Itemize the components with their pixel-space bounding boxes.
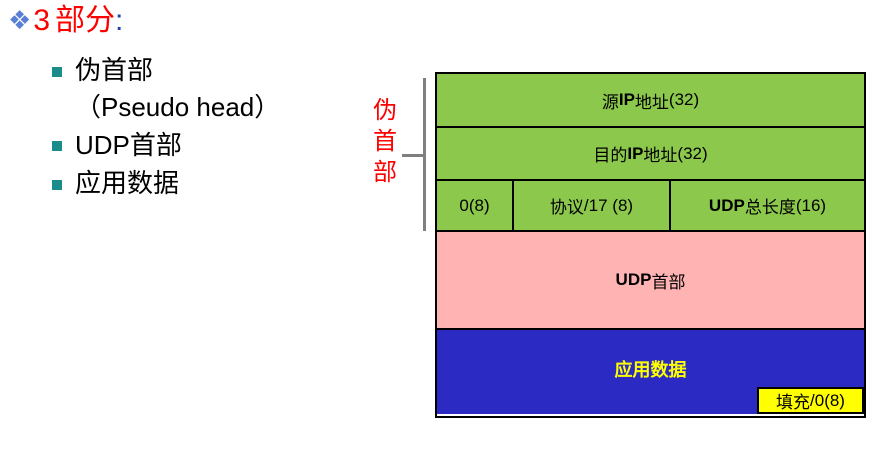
cell-protocol-field: 协议/17 (8) bbox=[514, 181, 671, 230]
cell-text-cn-post: 地址 bbox=[643, 141, 677, 166]
table-row-application-data: 应用数据 填充/0(8) bbox=[437, 330, 864, 414]
list-item-label: 应用数据 bbox=[75, 167, 179, 201]
diamond-bullet-icon: ❖ bbox=[8, 8, 31, 34]
cell-text-cn-pre: 协议 bbox=[550, 193, 584, 218]
cell-text-latin: IP bbox=[619, 90, 635, 110]
udp-pseudo-header-diagram: 源IP地址(32) 目的IP地址(32) 0(8) 协议/17 (8) UDP总… bbox=[435, 72, 866, 418]
slide-canvas: ❖ 3 部分 : 伪首部 （Pseudo head） UDP首部 应用数据 伪 … bbox=[0, 0, 895, 458]
cell-text-latin: UDP bbox=[616, 270, 652, 290]
bracket-tick-line bbox=[402, 154, 424, 157]
heading-number: 3 bbox=[33, 6, 50, 36]
cell-udp-header: UDP首部 bbox=[437, 232, 864, 328]
cell-text-latin: UDP bbox=[709, 196, 745, 216]
bracket-label-char: 部 bbox=[372, 158, 398, 189]
list-item-label-latin: UDP bbox=[75, 130, 130, 160]
padding-text-num: /0(8) bbox=[810, 391, 845, 411]
heading-label: 部分 bbox=[55, 6, 115, 36]
cell-text-cn-pre: 目的 bbox=[593, 141, 627, 166]
cell-zero-field: 0(8) bbox=[437, 181, 514, 230]
square-bullet-icon bbox=[52, 180, 62, 190]
cell-text-num: (32) bbox=[669, 90, 699, 110]
list-item-label-cn: 首部 bbox=[130, 131, 182, 160]
list-item: 应用数据 bbox=[52, 167, 372, 201]
table-row-proto-length: 0(8) 协议/17 (8) UDP总长度(16) bbox=[437, 181, 864, 232]
cell-text-num: /17 (8) bbox=[584, 196, 633, 216]
bracket-label-char: 伪 bbox=[372, 96, 398, 127]
list-item: 伪首部 bbox=[52, 54, 372, 88]
list-item-subtext: （Pseudo head） bbox=[75, 90, 372, 124]
cell-text-cn-post: 地址 bbox=[635, 88, 669, 113]
cell-text-cn-post: 总长度 bbox=[745, 193, 796, 218]
cell-text-cn-pre: 源 bbox=[602, 88, 619, 113]
cell-dest-ip: 目的IP地址(32) bbox=[437, 128, 864, 179]
padding-field: 填充/0(8) bbox=[757, 387, 864, 414]
square-bullet-icon bbox=[52, 141, 62, 151]
square-bullet-icon bbox=[52, 67, 62, 77]
table-row-dest-ip: 目的IP地址(32) bbox=[437, 128, 864, 181]
cell-source-ip: 源IP地址(32) bbox=[437, 74, 864, 126]
padding-text-cn: 填充 bbox=[776, 388, 810, 413]
cell-text-cn-post: 首部 bbox=[651, 268, 685, 293]
cell-text-num: (16) bbox=[796, 196, 826, 216]
bullet-list: 伪首部 （Pseudo head） UDP首部 应用数据 bbox=[52, 54, 372, 203]
table-row-udp-header: UDP首部 bbox=[437, 232, 864, 330]
cell-application-data-label: 应用数据 bbox=[437, 356, 864, 382]
list-item: UDP首部 bbox=[52, 128, 372, 163]
cell-text-num: (32) bbox=[677, 144, 707, 164]
list-item-label: UDP首部 bbox=[75, 128, 182, 163]
heading-colon: : bbox=[115, 6, 123, 36]
list-item-label: 伪首部 bbox=[75, 54, 153, 88]
cell-udp-length-field: UDP总长度(16) bbox=[671, 181, 864, 230]
bracket-label-char: 首 bbox=[372, 127, 398, 158]
table-row-source-ip: 源IP地址(32) bbox=[437, 74, 864, 128]
cell-text-num: 0(8) bbox=[459, 196, 489, 216]
pseudo-header-bracket-label: 伪 首 部 bbox=[372, 96, 398, 189]
cell-text-latin: IP bbox=[627, 144, 643, 164]
page-title: ❖ 3 部分 : bbox=[8, 6, 123, 36]
